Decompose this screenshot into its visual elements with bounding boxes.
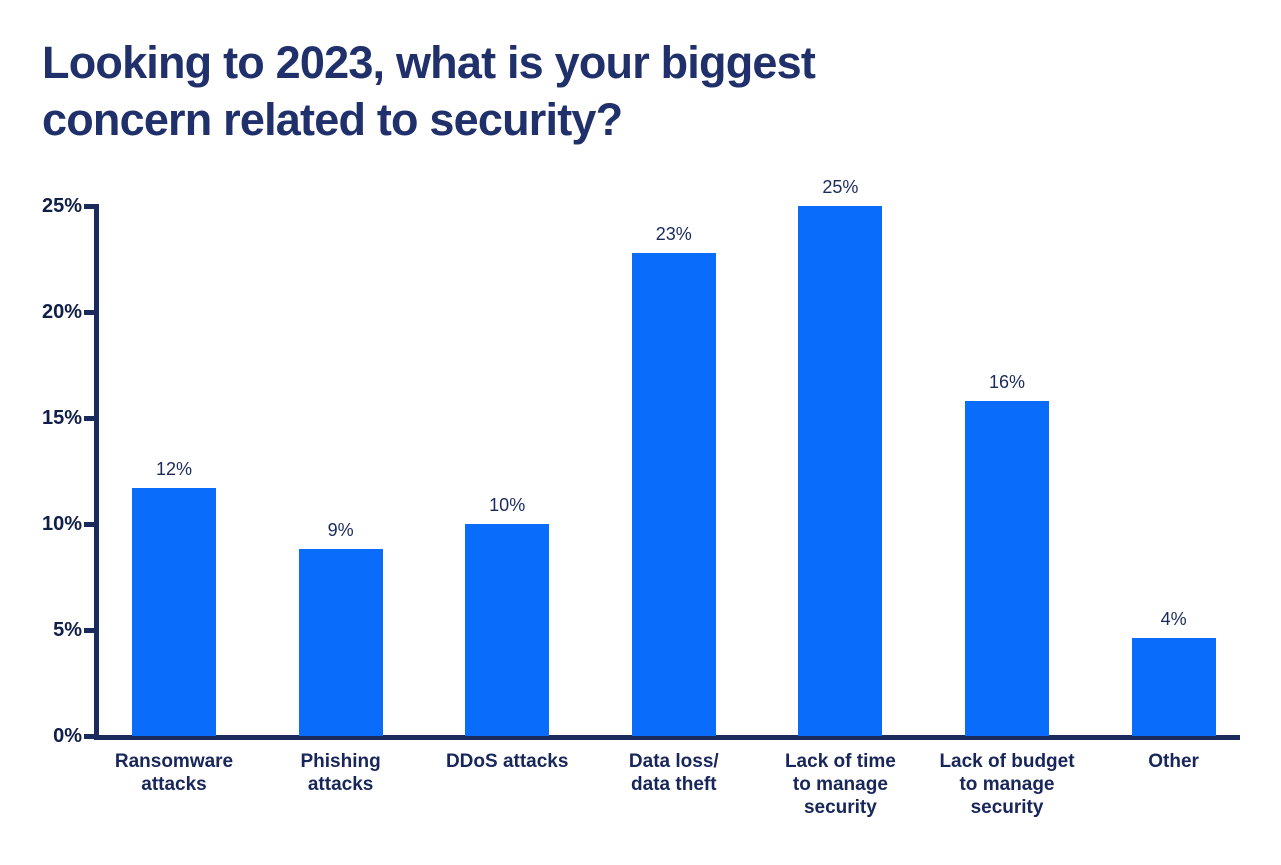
y-axis-tick-mark bbox=[84, 628, 95, 633]
x-axis-category-label: DDoS attacks bbox=[415, 750, 599, 773]
y-axis-tick-mark bbox=[84, 416, 95, 421]
bar[interactable] bbox=[1132, 638, 1216, 736]
bar[interactable] bbox=[632, 253, 716, 736]
y-axis-tick-label: 5% bbox=[0, 620, 82, 640]
x-axis-category-label: Ransomware attacks bbox=[82, 750, 266, 796]
y-axis-tick-mark bbox=[84, 310, 95, 315]
bar-value-label: 16% bbox=[925, 373, 1089, 391]
y-axis-tick-label: 0% bbox=[0, 726, 82, 746]
bar[interactable] bbox=[465, 524, 549, 736]
x-axis-category-label: Phishing attacks bbox=[249, 750, 433, 796]
y-axis-tick-mark bbox=[84, 522, 95, 527]
x-axis-category-label: Other bbox=[1082, 750, 1266, 773]
y-axis-tick-label: 25% bbox=[0, 196, 82, 216]
bar-value-label: 9% bbox=[259, 521, 423, 539]
y-axis-tick-label: 20% bbox=[0, 302, 82, 322]
y-axis-tick-mark bbox=[84, 204, 95, 209]
x-axis-category-label: Data loss/ data theft bbox=[582, 750, 766, 796]
bar-value-label: 23% bbox=[592, 225, 756, 243]
bar-value-label: 4% bbox=[1092, 610, 1256, 628]
bar-value-label: 12% bbox=[92, 460, 256, 478]
bar[interactable] bbox=[132, 488, 216, 736]
bar[interactable] bbox=[798, 206, 882, 736]
chart-page: Looking to 2023, what is your biggest co… bbox=[0, 0, 1281, 865]
bar[interactable] bbox=[299, 549, 383, 736]
x-axis-category-label: Lack of time to manage security bbox=[748, 750, 932, 819]
bar-value-label: 10% bbox=[425, 496, 589, 514]
bar-value-label: 25% bbox=[758, 178, 922, 196]
y-axis-tick-label: 15% bbox=[0, 408, 82, 428]
y-axis-tick-mark bbox=[84, 734, 95, 739]
bar[interactable] bbox=[965, 401, 1049, 736]
bar-chart-plot-area: 25%20%15%10%5%0% 12%Ransomware attacks9%… bbox=[0, 0, 1281, 865]
y-axis-tick-label: 10% bbox=[0, 514, 82, 534]
x-axis-category-label: Lack of budget to manage security bbox=[915, 750, 1099, 819]
